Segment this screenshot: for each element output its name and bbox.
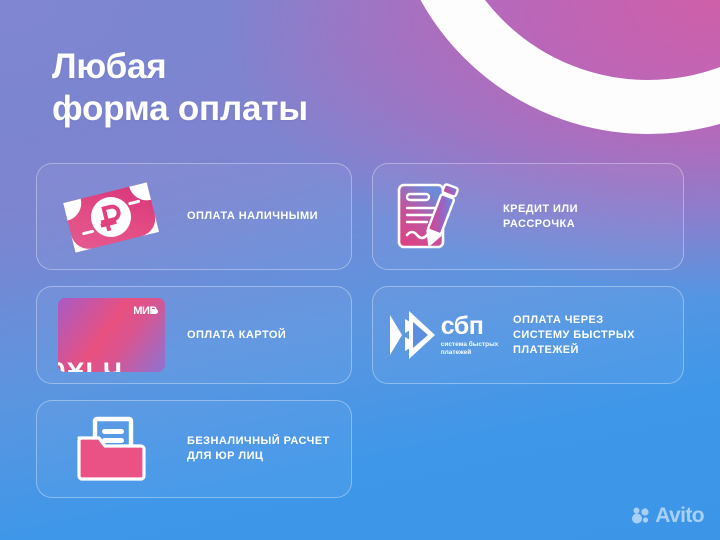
payment-option-credit-label: КРЕДИТ ИЛИ РАССРОЧКА (503, 202, 578, 232)
sbp-subtitle: система быстрых платежей (441, 341, 499, 356)
payment-option-invoice-label: БЕЗНАЛИЧНЫЙ РАСЧЕТ ДЛЯ ЮР ЛИЦ (187, 434, 330, 464)
payment-option-sbp-label: ОПЛАТА ЧЕРЕЗ СИСТЕМУ БЫСТРЫХ ПЛАТЕЖЕЙ (513, 313, 635, 358)
payment-option-bankcard-label: ОПЛАТА КАРТОЙ (187, 328, 286, 343)
sbp-logo-icon: сбп система быстрых платежей (388, 309, 499, 361)
avito-watermark: Avito (631, 505, 704, 526)
payment-methods-poster: Любая форма оплаты (0, 0, 720, 540)
decorative-ring-arc (388, 0, 720, 134)
folder-document-icon-wrap (37, 416, 185, 482)
contract-pen-icon-wrap (373, 181, 485, 253)
payment-option-cash[interactable]: ОПЛАТА НАЛИЧНЫМИ (36, 163, 352, 270)
avito-wordmark: Avito (655, 505, 704, 526)
banknote-ruble-icon-wrap (37, 177, 185, 257)
payment-option-sbp[interactable]: сбп система быстрых платежей ОПЛАТА ЧЕРЕ… (372, 286, 684, 384)
mir-logo: МИР (133, 306, 156, 317)
payment-option-cash-label: ОПЛАТА НАЛИЧНЫМИ (187, 209, 318, 224)
sbp-logo-icon-wrap: сбп система быстрых платежей (373, 309, 513, 361)
avito-dots-icon (631, 506, 651, 526)
bank-card-icon-wrap: МИР 0ӾLЧ (37, 298, 185, 372)
payment-option-bankcard[interactable]: МИР 0ӾLЧ ОПЛАТА КАРТОЙ (36, 286, 352, 384)
sbp-mark-icon (388, 309, 436, 361)
sbp-wordmark: сбп (441, 314, 499, 339)
folder-document-icon (71, 416, 151, 482)
payment-option-invoice[interactable]: БЕЗНАЛИЧНЫЙ РАСЧЕТ ДЛЯ ЮР ЛИЦ (36, 400, 352, 498)
payment-option-credit[interactable]: КРЕДИТ ИЛИ РАССРОЧКА (372, 163, 684, 270)
bank-card-icon: МИР 0ӾLЧ (58, 298, 165, 372)
page-title: Любая форма оплаты (52, 46, 308, 130)
banknote-ruble-icon (55, 177, 167, 257)
contract-pen-icon (396, 181, 462, 253)
card-number: 0ӾLЧ (58, 359, 124, 372)
